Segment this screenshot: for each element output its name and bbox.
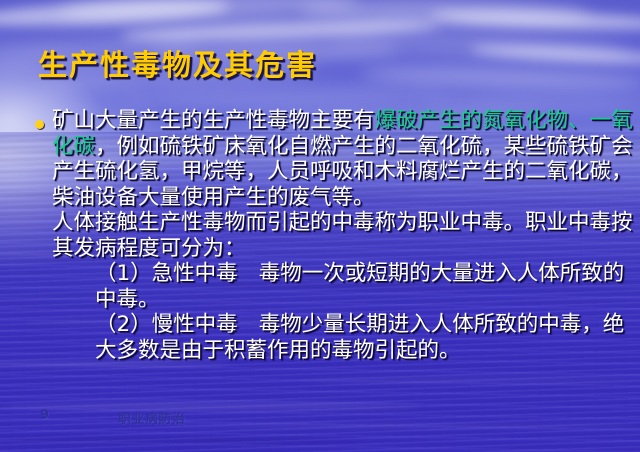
list-item-2: （2）慢性中毒毒物少量长期进入人体所致的中毒，绝大多数是由于积蓄作用的毒物引起的… bbox=[52, 312, 638, 363]
slide-content: 生产性毒物及其危害 矿山大量产生的生产性毒物主要有爆破产生的氮氧化物、一氧化碳，… bbox=[0, 0, 640, 452]
list-item-1-label: （1）急性中毒 bbox=[95, 261, 238, 286]
paragraph-1: 矿山大量产生的生产性毒物主要有爆破产生的氮氧化物、一氧化碳，例如硫铁矿床氧化自燃… bbox=[52, 108, 638, 210]
bullet-dot-icon bbox=[35, 120, 44, 129]
paragraph-1-segment-2: ，例如硫铁矿床氧化自燃产生的二氧化硫，某些硫铁矿会产生硫化氢，甲烷等，人员呼吸和… bbox=[52, 134, 633, 210]
slide-body: 矿山大量产生的生产性毒物主要有爆破产生的氮氧化物、一氧化碳，例如硫铁矿床氧化自燃… bbox=[52, 108, 638, 363]
footer-label: 职业病防治 bbox=[118, 408, 186, 427]
list-item-2-label: （2）慢性中毒 bbox=[95, 312, 238, 337]
slide-footer: 9 职业病防治 bbox=[0, 408, 640, 430]
paragraph-1-segment-1: 矿山大量产生的生产性毒物主要有 bbox=[52, 108, 375, 133]
presentation-slide: 生产性毒物及其危害 矿山大量产生的生产性毒物主要有爆破产生的氮氧化物、一氧化碳，… bbox=[0, 0, 640, 452]
page-title: 生产性毒物及其危害 bbox=[38, 42, 317, 84]
list-item-1: （1）急性中毒毒物一次或短期的大量进入人体所致的中毒。 bbox=[52, 261, 638, 312]
page-number: 9 bbox=[40, 408, 49, 423]
paragraph-2: 人体接触生产性毒物而引起的中毒称为职业中毒。职业中毒按其发病程度可分为： bbox=[52, 210, 638, 261]
